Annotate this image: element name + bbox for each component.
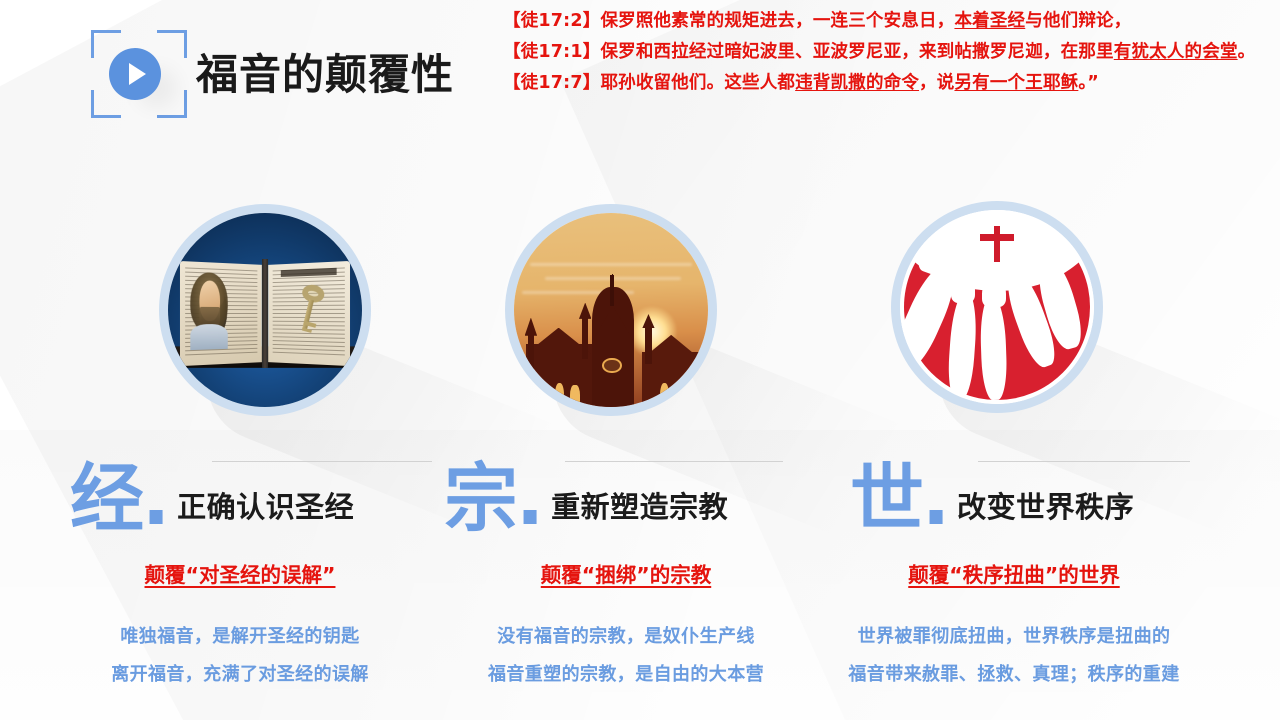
scripture-reference: 【徒17:2】 bbox=[503, 11, 600, 31]
column-3-headline: 世 . 改变世界秩序 bbox=[808, 468, 1262, 532]
column-1-headline: 经 . 正确认识圣经 bbox=[34, 468, 482, 532]
column-2-headline: 宗 . 重新塑造宗教 bbox=[420, 468, 856, 532]
scripture-reference: 【徒17:1】 bbox=[503, 42, 600, 62]
cross-icon-bar bbox=[980, 234, 1015, 241]
column-3-body: 世界被罪彻底扭曲，世界秩序是扭曲的 福音带来赦罪、拯救、真理；秩序的重建 bbox=[808, 618, 1220, 694]
column-2-image bbox=[505, 204, 717, 416]
column-2-dot: . bbox=[516, 468, 544, 532]
raised-hands-with-cross-logo bbox=[900, 210, 1094, 404]
column-divider bbox=[212, 461, 432, 462]
column-1-body-line-2: 离开福音，充满了对圣经的误解 bbox=[34, 656, 446, 694]
column-1-subhead: 正确认识圣经 bbox=[177, 484, 354, 532]
cross-icon bbox=[994, 226, 1001, 263]
cross-icon bbox=[610, 275, 614, 306]
column-1-body: 唯独福音，是解开圣经的钥匙 离开福音，充满了对圣经的误解 bbox=[34, 618, 446, 694]
column-1-dot: . bbox=[142, 468, 170, 532]
column-2-subhead: 重新塑造宗教 bbox=[551, 484, 728, 532]
column-divider bbox=[978, 461, 1190, 462]
column-divider bbox=[565, 461, 783, 462]
open-bible-with-jesus-and-key-photo bbox=[168, 213, 362, 407]
scripture-text: 耶孙收留他们。这些人都 bbox=[600, 73, 795, 93]
scripture-text: 。 bbox=[1238, 42, 1256, 62]
scripture-text: 与他们辩论， bbox=[1025, 11, 1131, 31]
scripture-emphasis: 本着圣经 bbox=[954, 11, 1025, 31]
column-2-body: 没有福音的宗教，是奴仆生产线 福音重塑的宗教，是自由的大本营 bbox=[420, 618, 832, 694]
scripture-verse: 【徒17:7】耶孙收留他们。这些人都违背凯撒的命令，说另有一个王耶稣。” bbox=[503, 68, 1265, 99]
play-button-icon bbox=[109, 48, 161, 100]
column-3-red-line: 颠覆“秩序扭曲”的世界 bbox=[808, 558, 1220, 588]
slide-logo bbox=[91, 30, 187, 118]
presentation-slide: 福音的颠覆性 【徒17:2】保罗照他素常的规矩进去，一连三个安息日，本着圣经与他… bbox=[0, 0, 1280, 720]
scripture-emphasis: 有犹太人的会堂 bbox=[1114, 42, 1238, 62]
column-3-big-char: 世 bbox=[850, 468, 924, 532]
scripture-block: 【徒17:2】保罗照他素常的规矩进去，一连三个安息日，本着圣经与他们辩论，【徒1… bbox=[503, 6, 1265, 99]
column-1-big-char: 经 bbox=[70, 468, 144, 532]
column-1-red-line: 颠覆“对圣经的误解” bbox=[34, 558, 446, 588]
column-2-body-line-2: 福音重塑的宗教，是自由的大本营 bbox=[420, 656, 832, 694]
church-silhouette-sunset-photo bbox=[514, 213, 708, 407]
column-3-body-line-1: 世界被罪彻底扭曲，世界秩序是扭曲的 bbox=[808, 618, 1220, 656]
scripture-text: 保罗照他素常的规矩进去，一连三个安息日， bbox=[600, 11, 954, 31]
column-3-image bbox=[891, 201, 1103, 413]
scripture-text: 。” bbox=[1078, 73, 1099, 93]
column-3-body-line-2: 福音带来赦罪、拯救、真理；秩序的重建 bbox=[808, 656, 1220, 694]
scripture-reference: 【徒17:7】 bbox=[503, 73, 600, 93]
column-1-body-line-1: 唯独福音，是解开圣经的钥匙 bbox=[34, 618, 446, 656]
scripture-verse: 【徒17:2】保罗照他素常的规矩进去，一连三个安息日，本着圣经与他们辩论， bbox=[503, 6, 1265, 37]
column-3-dot: . bbox=[922, 468, 950, 532]
scripture-text: ，说 bbox=[919, 73, 954, 93]
scripture-emphasis: 违背凯撒的命令 bbox=[795, 73, 919, 93]
scripture-text: 保罗和西拉经过暗妃波里、亚波罗尼亚，来到帖撒罗尼迦，在那里 bbox=[600, 42, 1113, 62]
page-title: 福音的颠覆性 bbox=[196, 41, 454, 102]
scripture-verse: 【徒17:1】保罗和西拉经过暗妃波里、亚波罗尼亚，来到帖撒罗尼迦，在那里有犹太人… bbox=[503, 37, 1265, 68]
column-2-big-char: 宗 bbox=[444, 468, 518, 532]
scripture-emphasis: 另有一个王耶稣 bbox=[954, 73, 1078, 93]
column-2-body-line-1: 没有福音的宗教，是奴仆生产线 bbox=[420, 618, 832, 656]
column-3-subhead: 改变世界秩序 bbox=[957, 484, 1134, 532]
column-2-red-line: 颠覆“捆绑”的宗教 bbox=[420, 558, 832, 588]
column-1-image bbox=[159, 204, 371, 416]
